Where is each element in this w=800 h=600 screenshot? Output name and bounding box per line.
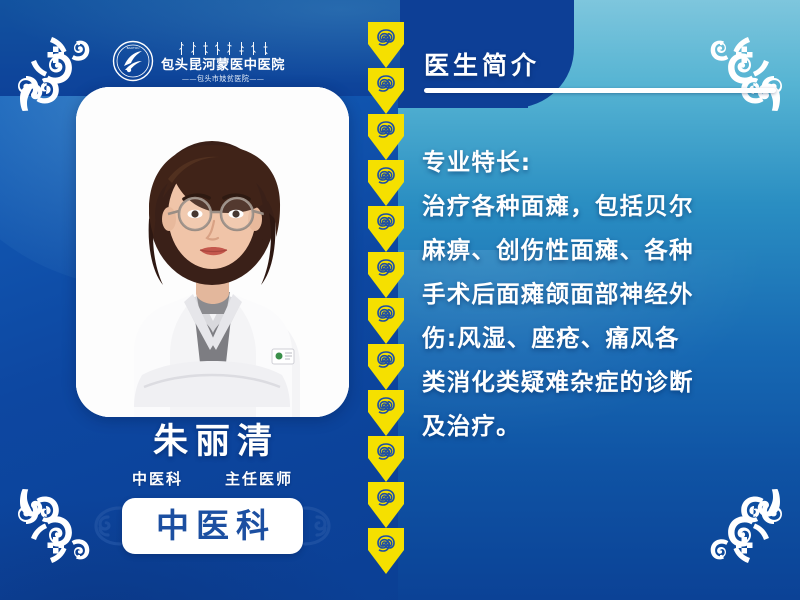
- doctor-title: 主任医师: [225, 468, 293, 489]
- department-badge: 中医科: [88, 498, 337, 554]
- svg-text:BAOTOU: BAOTOU: [127, 46, 140, 50]
- doctor-department: 中医科: [132, 468, 183, 489]
- section-title: 医生简介: [424, 50, 540, 82]
- mongolian-script-row: [161, 41, 285, 57]
- profile-line: 手术后面瘫颌面部神经外: [422, 272, 788, 316]
- profile-line: 及治疗。: [422, 404, 788, 448]
- doctor-credentials: 中医科 主任医师: [76, 468, 349, 489]
- department-badge-pill: 中医科: [122, 498, 303, 554]
- doctor-name: 朱丽清: [76, 420, 349, 464]
- corner-ornament-bottom-right-icon: [686, 486, 798, 598]
- corner-ornament-top-right-icon: [686, 2, 798, 114]
- department-badge-label: 中医科: [149, 506, 276, 546]
- section-title-underline: [424, 88, 776, 93]
- doctor-profile-card: BAOTOU 包头昆河蒙医中医院 ——包头市妓贫医院——: [0, 0, 800, 600]
- doctor-portrait-image: [76, 87, 349, 417]
- profile-line: 伤:风湿、座疮、痛风各: [422, 316, 788, 360]
- badge-scroll-right-icon: [295, 504, 339, 548]
- doctor-photo: [76, 87, 349, 417]
- hospital-logo: BAOTOU 包头昆河蒙医中医院 ——包头市妓贫医院——: [112, 33, 317, 89]
- profile-line: 类消化类疑难杂症的诊断: [422, 360, 788, 404]
- hospital-subtitle: ——包头市妓贫医院——: [161, 74, 285, 83]
- vertical-ornament-ribbon: [366, 22, 406, 578]
- hospital-name: 包头昆河蒙医中医院: [161, 58, 285, 73]
- profile-line: 麻痹、创伤性面瘫、各种: [422, 228, 788, 272]
- hospital-emblem-icon: BAOTOU: [112, 40, 154, 82]
- profile-line: 治疗各种面瘫，包括贝尔: [422, 184, 788, 228]
- profile-lead: 专业特长:: [422, 140, 788, 184]
- profile-body: 专业特长: 治疗各种面瘫，包括贝尔 麻痹、创伤性面瘫、各种 手术后面瘫颌面部神经…: [422, 140, 788, 448]
